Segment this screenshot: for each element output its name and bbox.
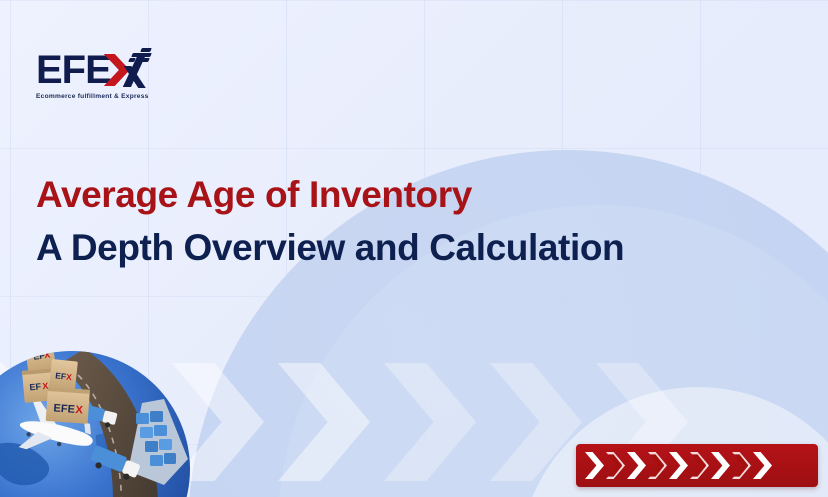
ribbon-chevron-icon <box>690 452 709 479</box>
ribbon-chevron-icon <box>627 452 646 479</box>
globe-illustration: EF X EF X EF X <box>0 329 212 497</box>
headline-line-1: Average Age of Inventory <box>36 168 624 221</box>
svg-text:X: X <box>43 350 50 361</box>
svg-text:EF: EF <box>29 381 42 392</box>
headline-line-2: A Depth Overview and Calculation <box>36 221 624 274</box>
logo-mark: EFE <box>36 46 172 88</box>
globe-svg: EF X EF X EF X <box>0 329 212 497</box>
logo-x-icon <box>108 50 150 88</box>
ribbon-chevron-icon <box>585 452 604 479</box>
svg-text:X: X <box>42 381 49 391</box>
chevron-ribbon <box>576 444 818 487</box>
ribbon-chevron-icon <box>711 452 730 479</box>
background-chevron <box>384 363 476 481</box>
marketing-banner: EFE Ecommerce fulfillment & Express Aver… <box>0 0 828 497</box>
ribbon-chevron-icon <box>753 452 772 479</box>
headline-block: Average Age of Inventory A Depth Overvie… <box>36 168 624 274</box>
ribbon-chevron-icon <box>648 452 667 479</box>
efex-logo[interactable]: EFE Ecommerce fulfillment & Express <box>36 46 172 100</box>
logo-tagline: Ecommerce fulfillment & Express <box>36 93 172 100</box>
ribbon-chevron-icon <box>606 452 625 479</box>
svg-text:EF: EF <box>55 370 67 381</box>
ribbon-chevron-icon <box>669 452 688 479</box>
logo-wordmark: EFE <box>36 52 111 88</box>
ribbon-chevron-icon <box>732 452 751 479</box>
background-chevron <box>278 363 370 481</box>
svg-text:EFE: EFE <box>53 402 75 415</box>
speed-dashes-icon <box>128 48 154 64</box>
